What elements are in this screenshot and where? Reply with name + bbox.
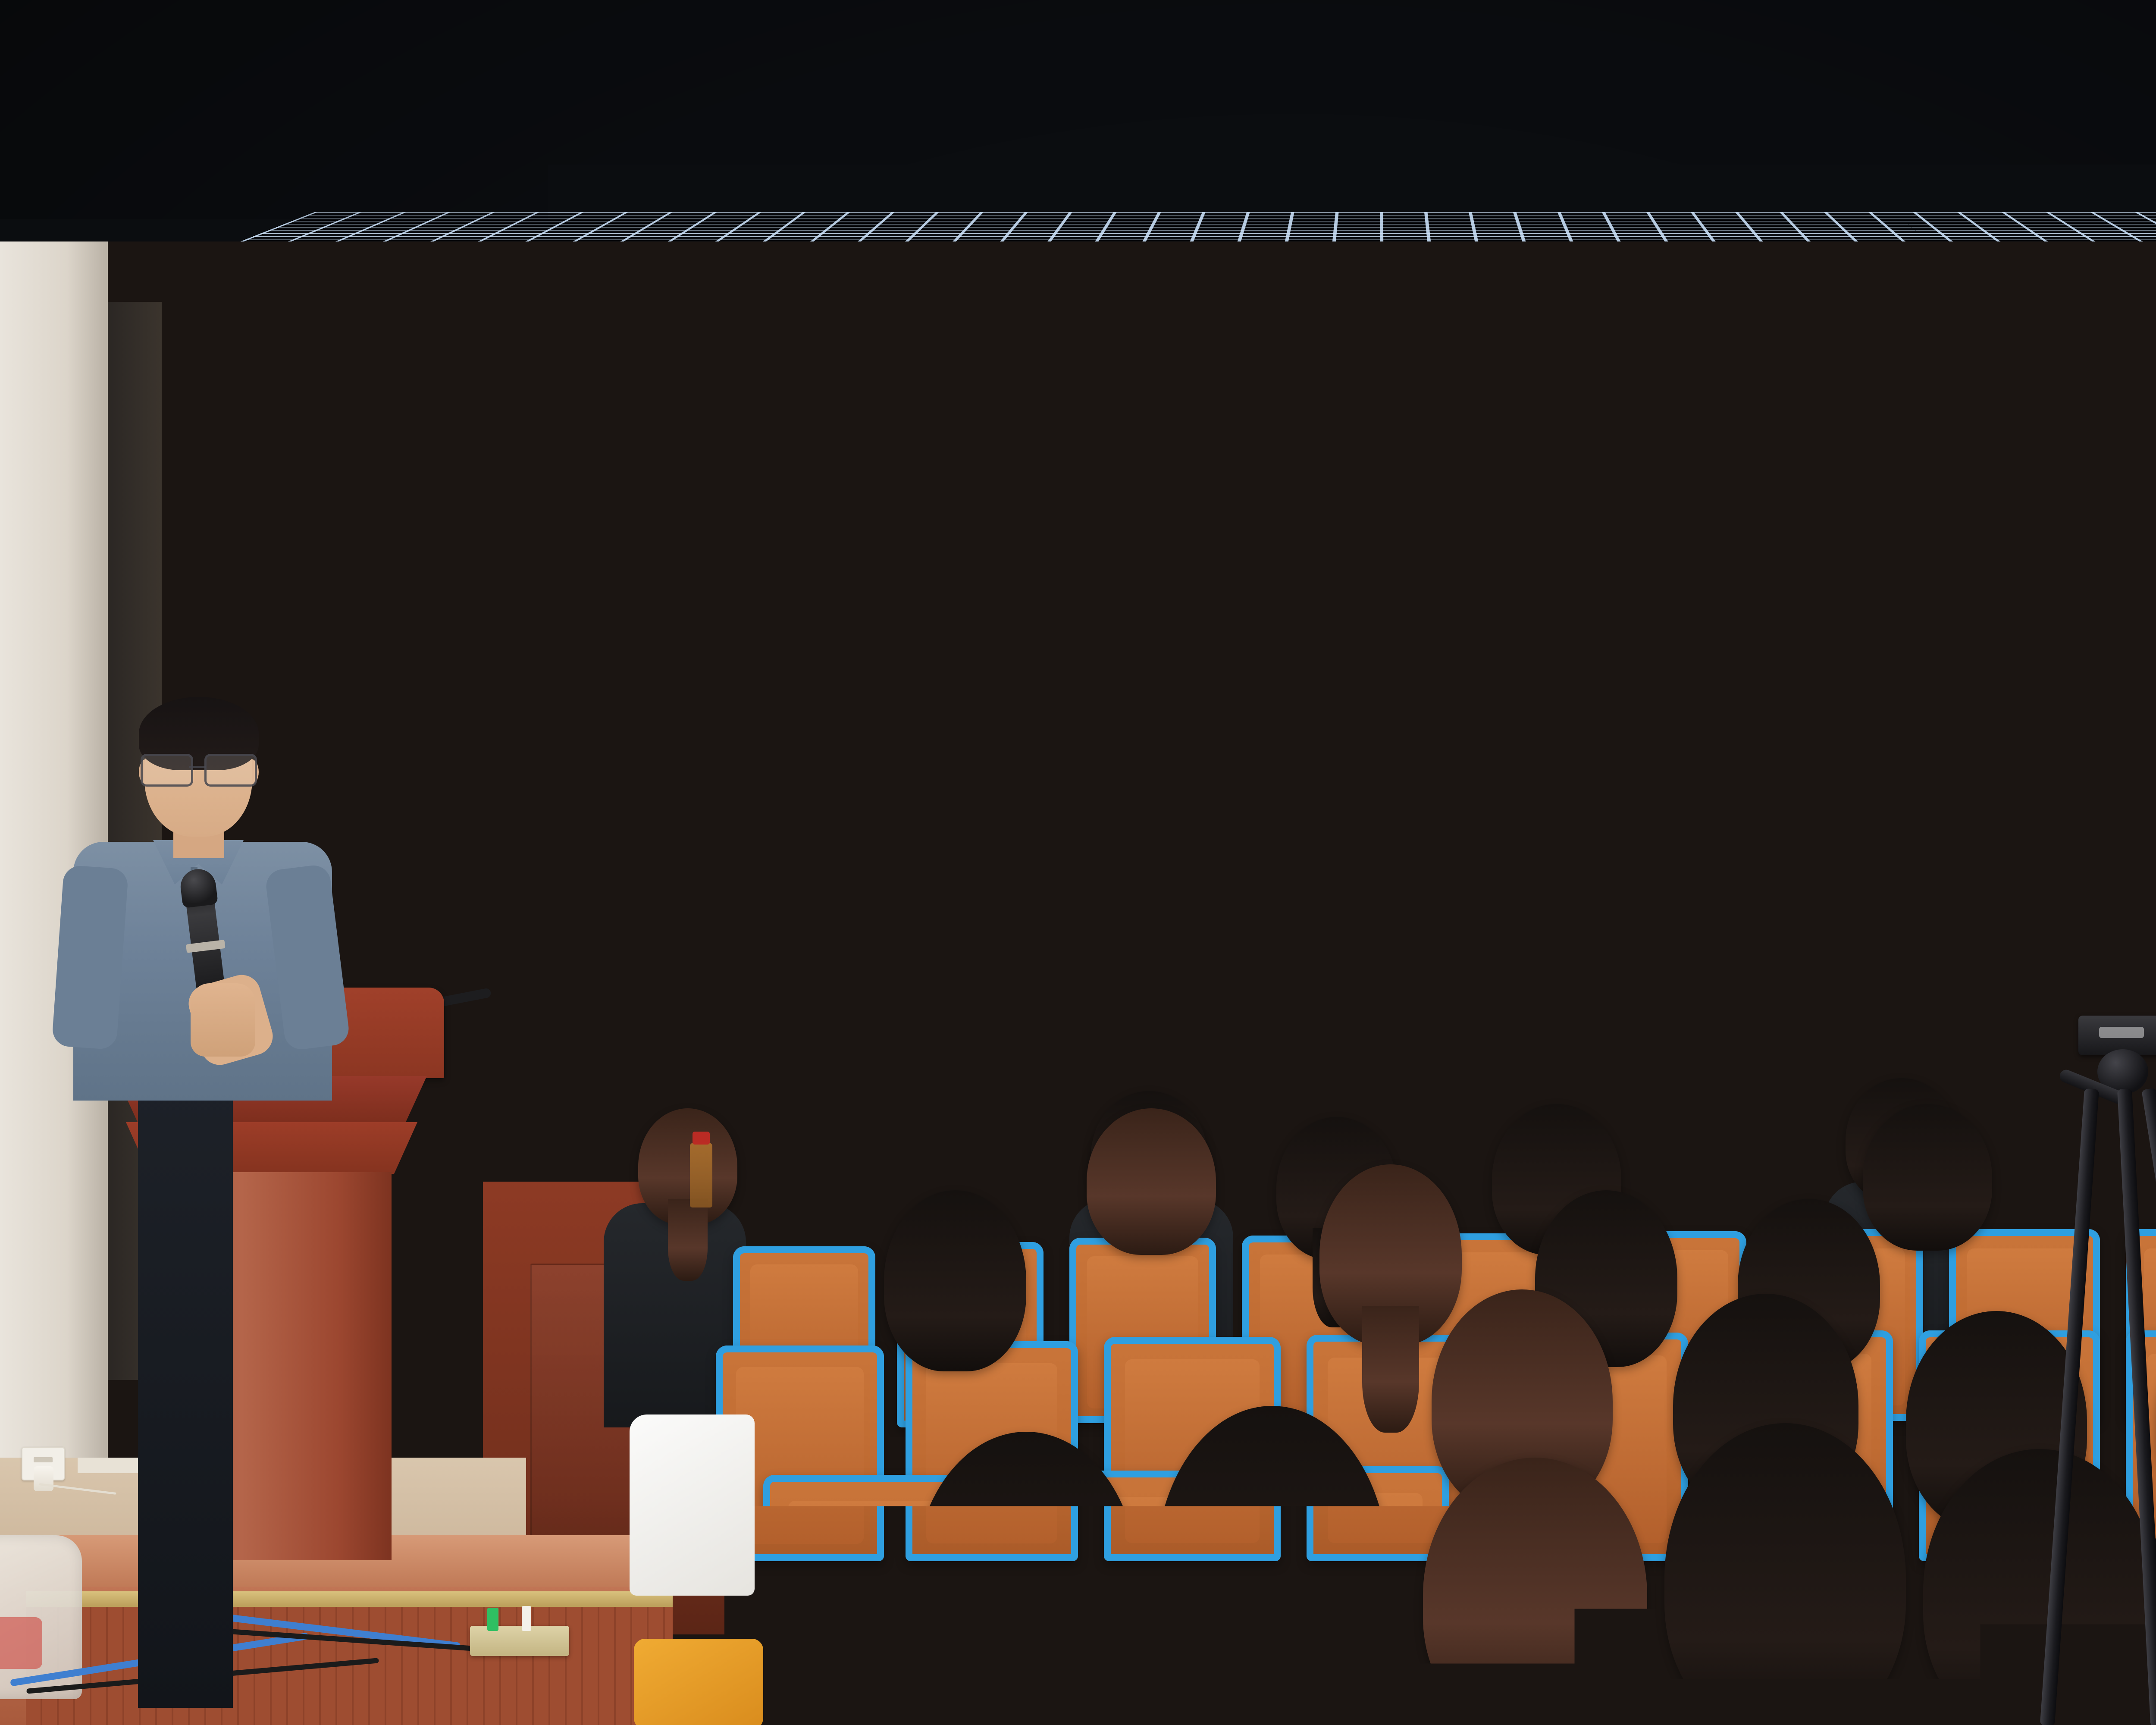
audience-head: [884, 1190, 1026, 1371]
audience-head: [914, 1432, 1138, 1725]
outlet-plug-icon: [34, 1466, 53, 1491]
speaker-person: [65, 681, 367, 1095]
glasses-bridge: [189, 766, 206, 768]
lens-left: [141, 754, 193, 787]
audience-head: [1087, 1108, 1216, 1255]
bottle-cap: [1037, 1132, 1055, 1145]
slide-title-line2: 做绿水青山守护者: [540, 544, 2156, 649]
white-plug-icon: [522, 1606, 531, 1631]
speaker-legs: [138, 1087, 233, 1708]
audience-head: [638, 1108, 737, 1225]
audience-head: [1156, 1406, 1388, 1725]
lens-right: [204, 754, 257, 787]
stage-floor-power-box: [470, 1626, 569, 1656]
grid-ceiling: [0, 0, 2156, 241]
slide-title-line1: 学党史 守初心: [1181, 442, 1766, 542]
bag-contents: [0, 1617, 42, 1669]
audience-head: [1863, 1104, 1992, 1251]
auditorium-scene: 学党史 守初心 做绿水青山守护者 副院长 曹治国: [0, 0, 2156, 1725]
ceiling-shading: [0, 0, 2156, 241]
audience-head: [673, 1535, 880, 1725]
speaker-hand: [191, 983, 255, 1057]
building-shape: [984, 983, 1029, 1145]
building-shape: [1596, 955, 1661, 1145]
bottle-cap: [693, 1132, 710, 1145]
mic-ring: [186, 940, 226, 953]
water-bottle: [690, 1143, 712, 1207]
outlet-slots: [34, 1457, 53, 1462]
camera-tripod: [2053, 1016, 2156, 1725]
projection-screen: 学党史 守初心 做绿水青山守护者 副院长 曹治国: [540, 341, 2156, 1197]
stage-nose-trim: [26, 1591, 673, 1609]
building-shape: [837, 1020, 876, 1145]
tree-canopy: [2153, 834, 2156, 1041]
building-shape: [1225, 996, 1273, 1145]
green-plug-icon: [487, 1608, 498, 1631]
green-city-skyline-graphic: [837, 903, 1829, 1145]
slide-title: 学党史 守初心 做绿水青山守护者: [540, 440, 2156, 648]
eyeglasses-icon: [141, 754, 260, 786]
runner-silhouette-graphic: [1993, 1059, 2040, 1136]
tripod-quickrelease: [2099, 1027, 2144, 1038]
building-shape: [1037, 1003, 1101, 1145]
water-bottle: [1035, 1143, 1057, 1207]
building-shape: [1667, 1016, 1708, 1145]
building-shape: [1715, 985, 1769, 1145]
building-shape: [885, 960, 941, 1145]
building-shape: [1456, 1031, 1495, 1145]
audience-head: [1664, 1423, 1906, 1725]
building-shape: [1381, 968, 1450, 1145]
speaker-left-arm: [52, 865, 129, 1050]
building-shape: [947, 1052, 978, 1145]
tripod-leg: [2117, 1088, 2156, 1725]
audience-head: [1319, 1164, 1462, 1345]
audience-head: [1423, 1458, 1647, 1725]
